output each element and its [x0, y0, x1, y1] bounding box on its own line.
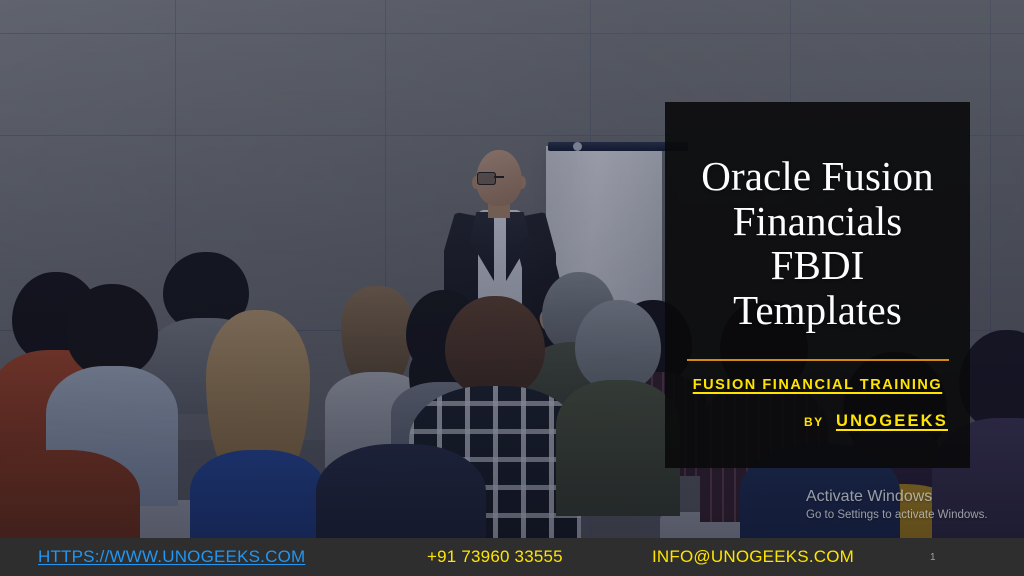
title-line-2: Financials: [733, 198, 903, 244]
slide-number: 1: [930, 552, 936, 563]
phone-number: +91 73960 33555: [427, 547, 563, 567]
title-line-1: Oracle Fusion: [701, 153, 933, 199]
title-line-3: FBDI: [771, 242, 865, 288]
byline-prefix: BY: [804, 415, 823, 429]
page-title: Oracle Fusion Financials FBDI Templates: [671, 154, 964, 333]
title-divider: [687, 359, 949, 361]
presentation-slide: Oracle Fusion Financials FBDI Templates …: [0, 0, 1024, 576]
email-address: INFO@UNOGEEKS.COM: [652, 547, 854, 567]
title-panel: Oracle Fusion Financials FBDI Templates …: [665, 102, 970, 468]
subtitle: FUSION FINANCIAL TRAINING: [671, 377, 964, 393]
website-link[interactable]: HTTPS://WWW.UNOGEEKS.COM: [38, 547, 305, 567]
footer-contact-bar: HTTPS://WWW.UNOGEEKS.COM +91 73960 33555…: [0, 538, 1024, 576]
byline: BY UNOGEEKS: [671, 412, 964, 431]
byline-brand: UNOGEEKS: [836, 412, 948, 430]
title-line-4: Templates: [733, 287, 902, 333]
